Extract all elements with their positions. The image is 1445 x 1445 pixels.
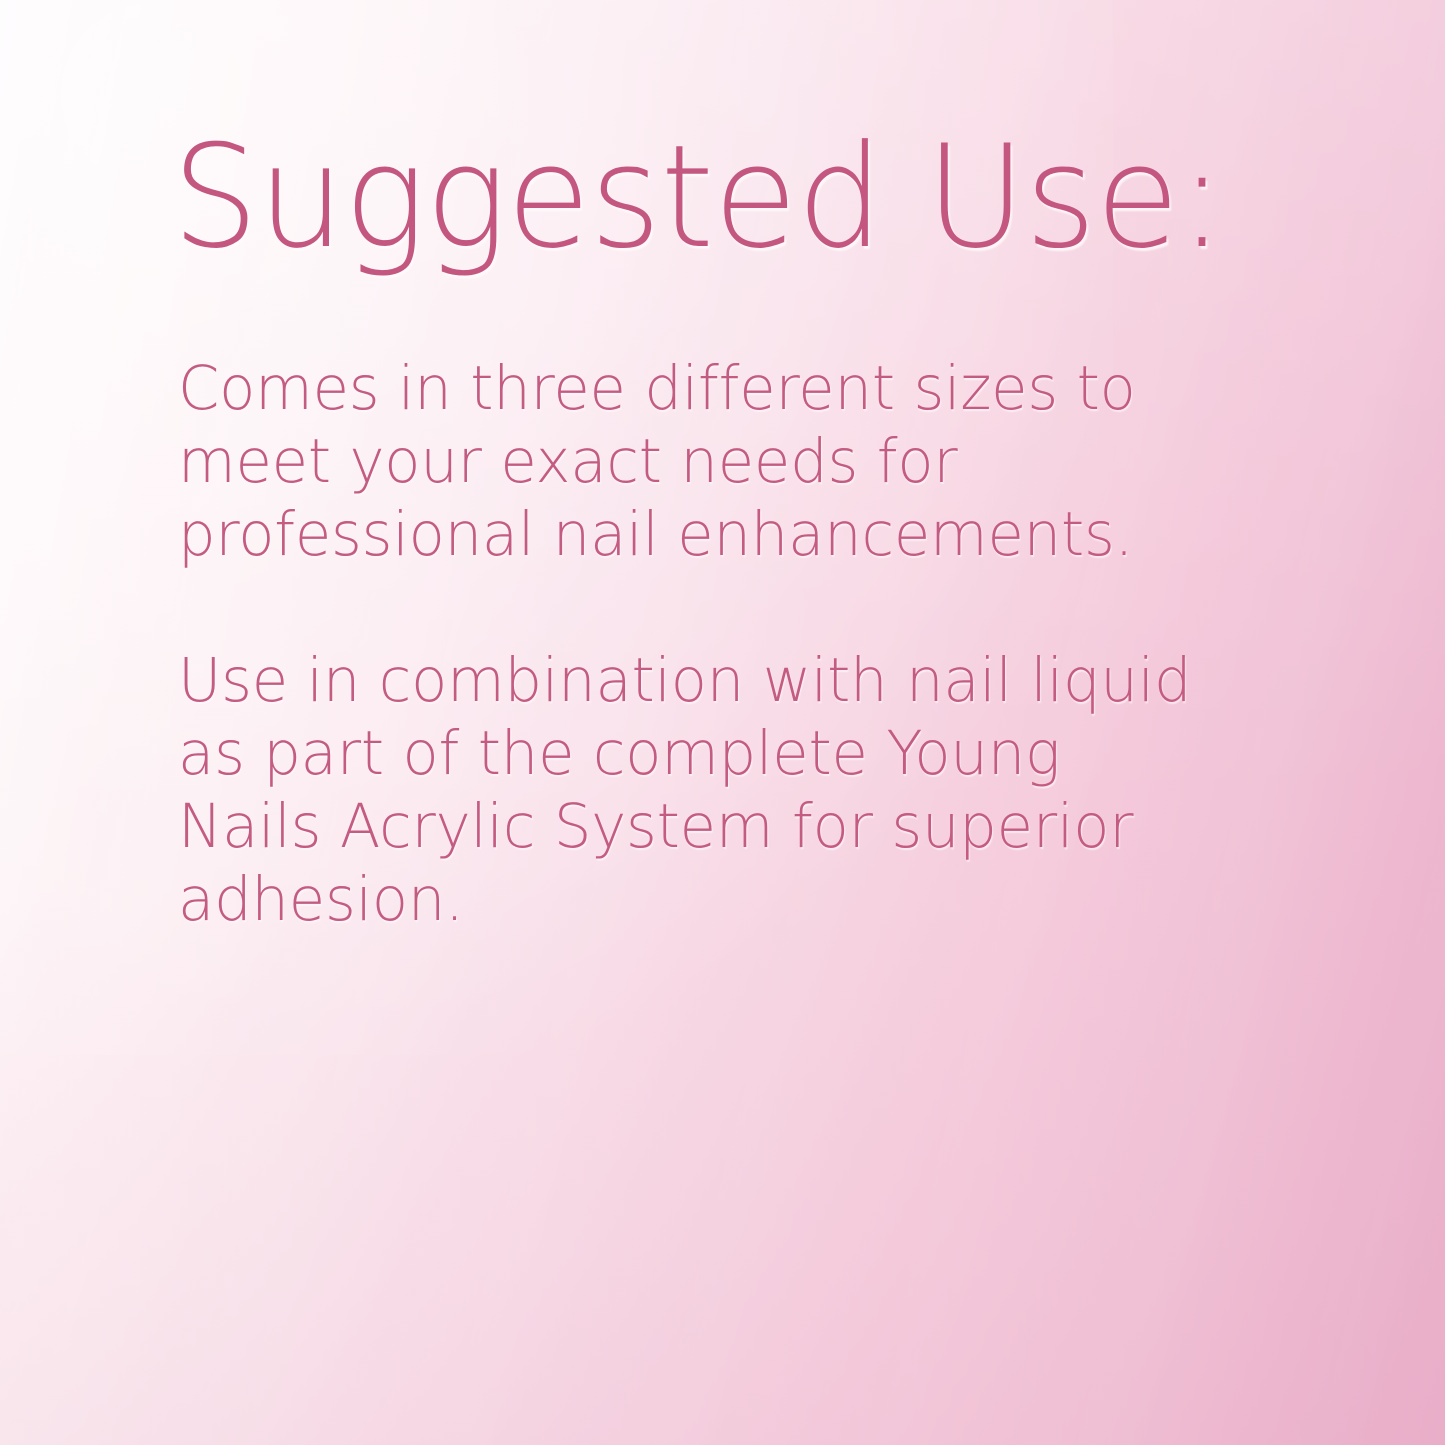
- body-copy: Comes in three different sizes to meet y…: [178, 352, 1248, 936]
- content-column: Suggested Use: Comes in three different …: [172, 0, 1292, 1445]
- suggested-use-card: Suggested Use: Comes in three different …: [0, 0, 1445, 1445]
- paragraph-system: Use in combination with nail liquid as p…: [178, 644, 1216, 936]
- paragraph-sizes: Comes in three different sizes to meet y…: [178, 352, 1216, 571]
- page-title: Suggested Use:: [172, 118, 1224, 277]
